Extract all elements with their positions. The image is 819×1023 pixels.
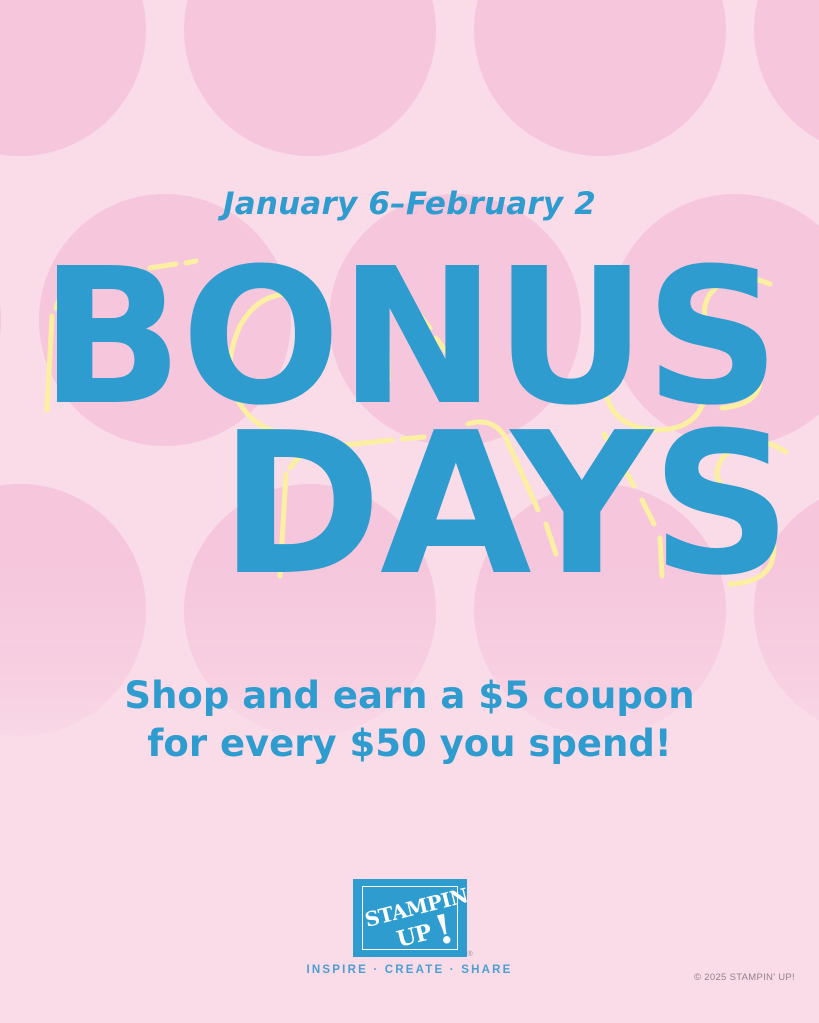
headline-word-days: DAYS xyxy=(219,391,790,619)
logo-exclamation-mark: ! xyxy=(430,905,458,955)
promo-headline: BONUS DAYS xyxy=(0,224,819,614)
copyright-notice: © 2025 STAMPIN' UP! xyxy=(694,972,795,983)
subhead-line-2: for every $50 you spend! xyxy=(0,720,819,768)
promo-subhead: Shop and earn a $5 coupon for every $50 … xyxy=(0,672,819,768)
promo-poster: January 6–February 2 BONUS xyxy=(0,0,819,1023)
subhead-line-1: Shop and earn a $5 coupon xyxy=(0,672,819,720)
brand-logo-lockup: STAMPIN' UP ! ® INSPIRE · CREATE · SHARE xyxy=(0,879,819,976)
stampin-up-logo-mark: STAMPIN' UP ! xyxy=(353,879,467,957)
logo-word-up: UP xyxy=(394,919,434,953)
promo-date-range: January 6–February 2 xyxy=(0,186,819,222)
registered-trademark-mark: ® xyxy=(468,951,473,958)
